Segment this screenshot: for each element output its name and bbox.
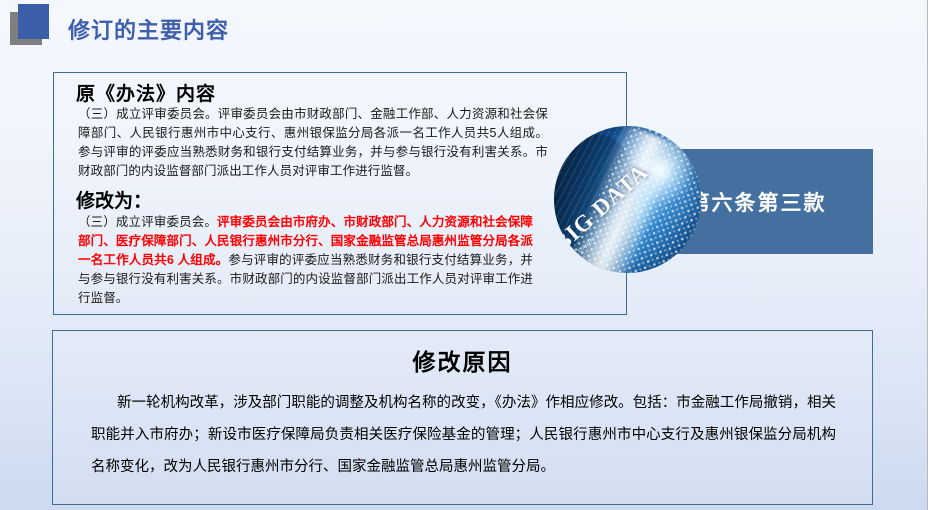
revised-prefix-text: （三）成立评审委员会。: [78, 215, 217, 229]
reason-paragraph: 新一轮机构改革，涉及部门职能的调整及机构名称的改变，《办法》作相应修改。包括：市…: [91, 387, 836, 483]
page-title: 修订的主要内容: [68, 13, 229, 45]
revised-heading-wrap: 修改为：: [76, 186, 152, 216]
revised-heading: 修改为：: [76, 186, 152, 213]
original-paragraph: （三）成立评审委员会。评审委员会由市财政部门、金融工作部、人力资源和社会保障部门…: [76, 105, 548, 181]
reason-title: 修改原因: [53, 343, 872, 377]
revised-paragraph: （三）成立评审委员会。评审委员会由市府办、市财政部门、人力资源和社会保障部门、医…: [76, 213, 533, 308]
original-paragraph-wrap: （三）成立评审委员会。评审委员会由市财政部门、金融工作部、人力资源和社会保障部门…: [76, 105, 552, 181]
reason-panel: 修改原因 新一轮机构改革，涉及部门职能的调整及机构名称的改变，《办法》作相应修改…: [52, 330, 873, 505]
big-data-sphere-icon: THE DAWN OF BIG DATA: [554, 126, 701, 273]
header-decoration-square-front: [18, 4, 49, 39]
slide-canvas: 修订的主要内容 原《办法》内容 （三）成立评审委员会。评审委员会由市财政部门、金…: [0, 0, 928, 510]
original-heading: 原《办法》内容: [76, 79, 216, 106]
revised-paragraph-wrap: （三）成立评审委员会。评审委员会由市府办、市财政部门、人力资源和社会保障部门、医…: [76, 213, 542, 308]
original-content-panel: 原《办法》内容 （三）成立评审委员会。评审委员会由市财政部门、金融工作部、人力资…: [53, 72, 627, 315]
